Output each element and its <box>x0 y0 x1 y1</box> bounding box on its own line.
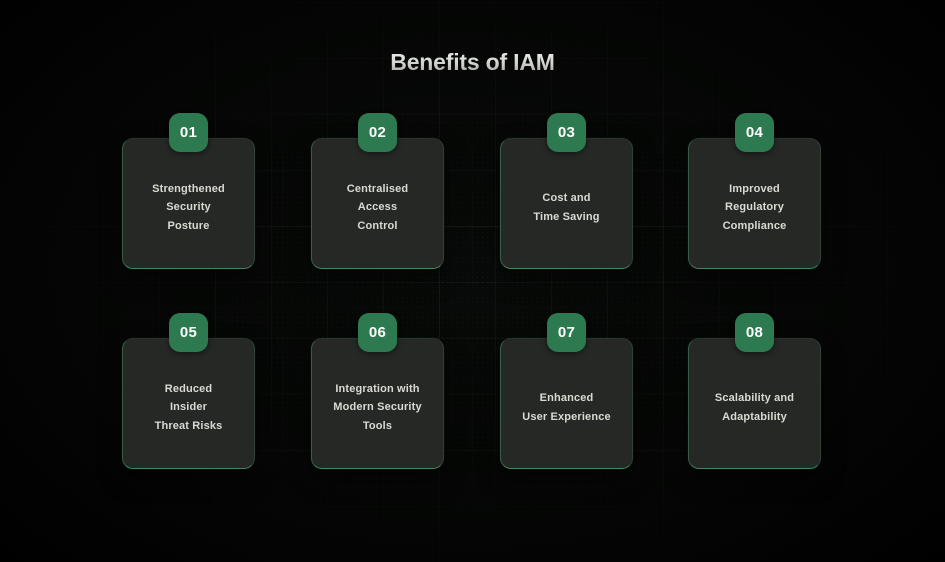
benefit-label-01: StrengthenedSecurityPosture <box>128 172 250 236</box>
benefit-label-04: ImprovedRegulatoryCompliance <box>694 172 816 236</box>
benefit-label-05: ReducedInsiderThreat Risks <box>128 372 250 436</box>
benefit-number-badge-06: 06 <box>358 313 397 352</box>
benefit-number-badge-02: 02 <box>358 113 397 152</box>
benefit-number-badge-04: 04 <box>735 113 774 152</box>
benefit-card-04[interactable]: ImprovedRegulatoryCompliance <box>688 138 821 269</box>
benefit-card-07[interactable]: EnhancedUser Experience <box>500 338 633 469</box>
benefit-number-badge-05: 05 <box>169 313 208 352</box>
benefit-label-06: Integration withModern SecurityTools <box>317 372 439 436</box>
page-title: Benefits of IAM <box>0 49 945 76</box>
benefit-card-02[interactable]: CentralisedAccessControl <box>311 138 444 269</box>
benefit-card-03[interactable]: Cost andTime Saving <box>500 138 633 269</box>
benefit-card-05[interactable]: ReducedInsiderThreat Risks <box>122 338 255 469</box>
benefit-label-07: EnhancedUser Experience <box>506 381 628 426</box>
benefits-grid: StrengthenedSecurityPosture 01 Centralis… <box>0 0 945 562</box>
benefit-number-badge-08: 08 <box>735 313 774 352</box>
benefit-card-01[interactable]: StrengthenedSecurityPosture <box>122 138 255 269</box>
benefit-card-08[interactable]: Scalability andAdaptability <box>688 338 821 469</box>
slide-canvas: Benefits of IAM StrengthenedSecurityPost… <box>0 0 945 562</box>
benefit-label-02: CentralisedAccessControl <box>317 172 439 236</box>
benefit-label-03: Cost andTime Saving <box>506 181 628 226</box>
benefit-number-badge-03: 03 <box>547 113 586 152</box>
benefit-number-badge-07: 07 <box>547 313 586 352</box>
benefit-label-08: Scalability andAdaptability <box>694 381 816 426</box>
benefit-number-badge-01: 01 <box>169 113 208 152</box>
benefit-card-06[interactable]: Integration withModern SecurityTools <box>311 338 444 469</box>
